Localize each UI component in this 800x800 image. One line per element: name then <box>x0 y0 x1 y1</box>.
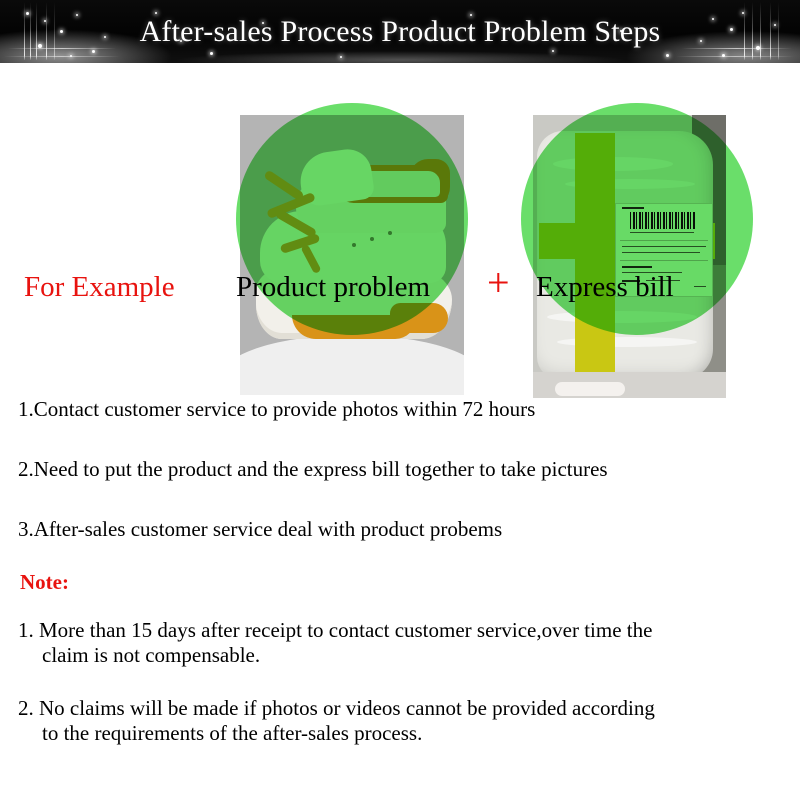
for-example-label: For Example <box>24 271 175 304</box>
note-heading: Note: <box>20 570 69 595</box>
barcode-icon <box>630 212 696 229</box>
example-section: For Example <box>0 63 800 363</box>
sneaker-illustration <box>240 115 464 395</box>
product-problem-label: Product problem <box>236 271 430 304</box>
page-banner: After-sales Process Product Problem Step… <box>0 0 800 63</box>
note-line-primary: 2. No claims will be made if photos or v… <box>18 696 655 720</box>
note-line-continuation: to the requirements of the after-sales p… <box>18 721 794 746</box>
note-list-item: 1. More than 15 days after receipt to co… <box>18 618 794 668</box>
page-title: After-sales Process Product Problem Step… <box>0 0 800 63</box>
note-line-continuation: claim is not compensable. <box>18 643 794 668</box>
plus-icon: + <box>487 263 510 303</box>
step-item: 3.After-sales customer service deal with… <box>18 517 502 542</box>
express-bill-photo <box>533 115 726 398</box>
note-line-primary: 1. More than 15 days after receipt to co… <box>18 618 652 642</box>
express-bill-label: Express bill <box>536 271 674 304</box>
step-item: 2.Need to put the product and the expres… <box>18 457 608 482</box>
note-list-item: 2. No claims will be made if photos or v… <box>18 696 794 746</box>
product-problem-photo <box>240 115 464 395</box>
step-item: 1.Contact customer service to provide ph… <box>18 397 535 422</box>
